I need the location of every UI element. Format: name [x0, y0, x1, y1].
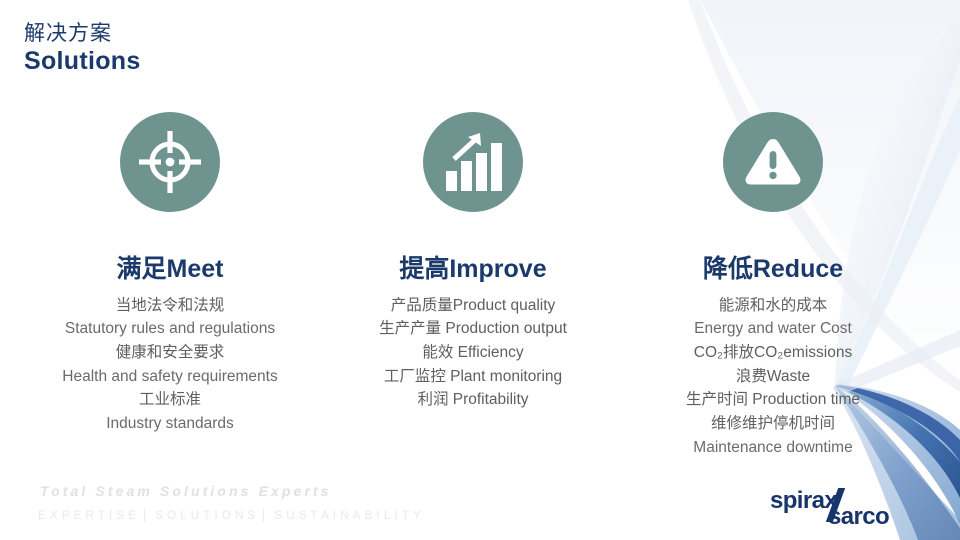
logo-text-sarco: sarco	[828, 503, 889, 531]
list-item: 生产时间 Production time	[623, 388, 923, 412]
list-item: 维修维护停机时间	[623, 412, 923, 436]
footer-tagline: Total Steam Solutions Experts	[40, 483, 332, 499]
column-heading-reduce: 降低Reduce	[623, 256, 923, 284]
footer-pillar-expertise: EXPERTISE	[38, 510, 140, 522]
list-item: Statutory rules and regulations	[20, 317, 320, 341]
list-item: Energy and water Cost	[623, 317, 923, 341]
list-item: 健康和安全要求	[20, 341, 320, 365]
crosshair-target-icon	[120, 112, 220, 212]
list-item: Industry standards	[20, 412, 320, 436]
list-item: 浪费Waste	[623, 365, 923, 389]
column-heading-meet: 满足Meet	[20, 256, 320, 284]
pillar-separator-icon	[263, 509, 264, 522]
list-item: 利润 Profitability	[323, 388, 623, 412]
solution-column-improve: 提高Improve 产品质量Product quality 生产产量 Produ…	[323, 112, 623, 459]
solution-column-meet: 满足Meet 当地法令和法规 Statutory rules and regul…	[20, 112, 320, 459]
column-lines-improve: 产品质量Product quality 生产产量 Production outp…	[323, 294, 623, 413]
bar-chart-growth-icon	[423, 112, 523, 212]
list-item: 工业标准	[20, 388, 320, 412]
page-title-chinese: 解决方案	[24, 22, 141, 46]
pillar-separator-icon	[144, 509, 145, 522]
solutions-columns: 满足Meet 当地法令和法规 Statutory rules and regul…	[0, 112, 960, 459]
list-item: 产品质量Product quality	[323, 294, 623, 318]
footer-pillar-sustainability: SUSTAINABILITY	[274, 510, 425, 522]
list-item: CO₂排放CO₂emissions	[623, 341, 923, 365]
column-lines-meet: 当地法令和法规 Statutory rules and regulations …	[20, 294, 320, 436]
list-item: 生产产量 Production output	[323, 317, 623, 341]
column-lines-reduce: 能源和水的成本 Energy and water Cost CO₂排放CO₂em…	[623, 294, 923, 460]
list-item: Health and safety requirements	[20, 365, 320, 389]
spirax-sarco-logo: spirax sarco	[770, 487, 945, 532]
solution-column-reduce: 降低Reduce 能源和水的成本 Energy and water Cost C…	[623, 112, 923, 459]
column-heading-improve: 提高Improve	[323, 256, 623, 284]
footer-pillars: EXPERTISE SOLUTIONS SUSTAINABILITY	[38, 509, 425, 522]
list-item: 能源和水的成本	[623, 294, 923, 318]
list-item: 工厂监控 Plant monitoring	[323, 365, 623, 389]
list-item: Maintenance downtime	[623, 436, 923, 460]
warning-triangle-icon	[723, 112, 823, 212]
page-title-english: Solutions	[24, 47, 141, 75]
list-item: 当地法令和法规	[20, 294, 320, 318]
list-item: 能效 Efficiency	[323, 341, 623, 365]
page-title: 解决方案 Solutions	[24, 22, 141, 75]
slide-canvas: 解决方案 Solutions 满足Meet 当地法令和法规	[0, 0, 960, 540]
footer-pillar-solutions: SOLUTIONS	[155, 510, 259, 522]
